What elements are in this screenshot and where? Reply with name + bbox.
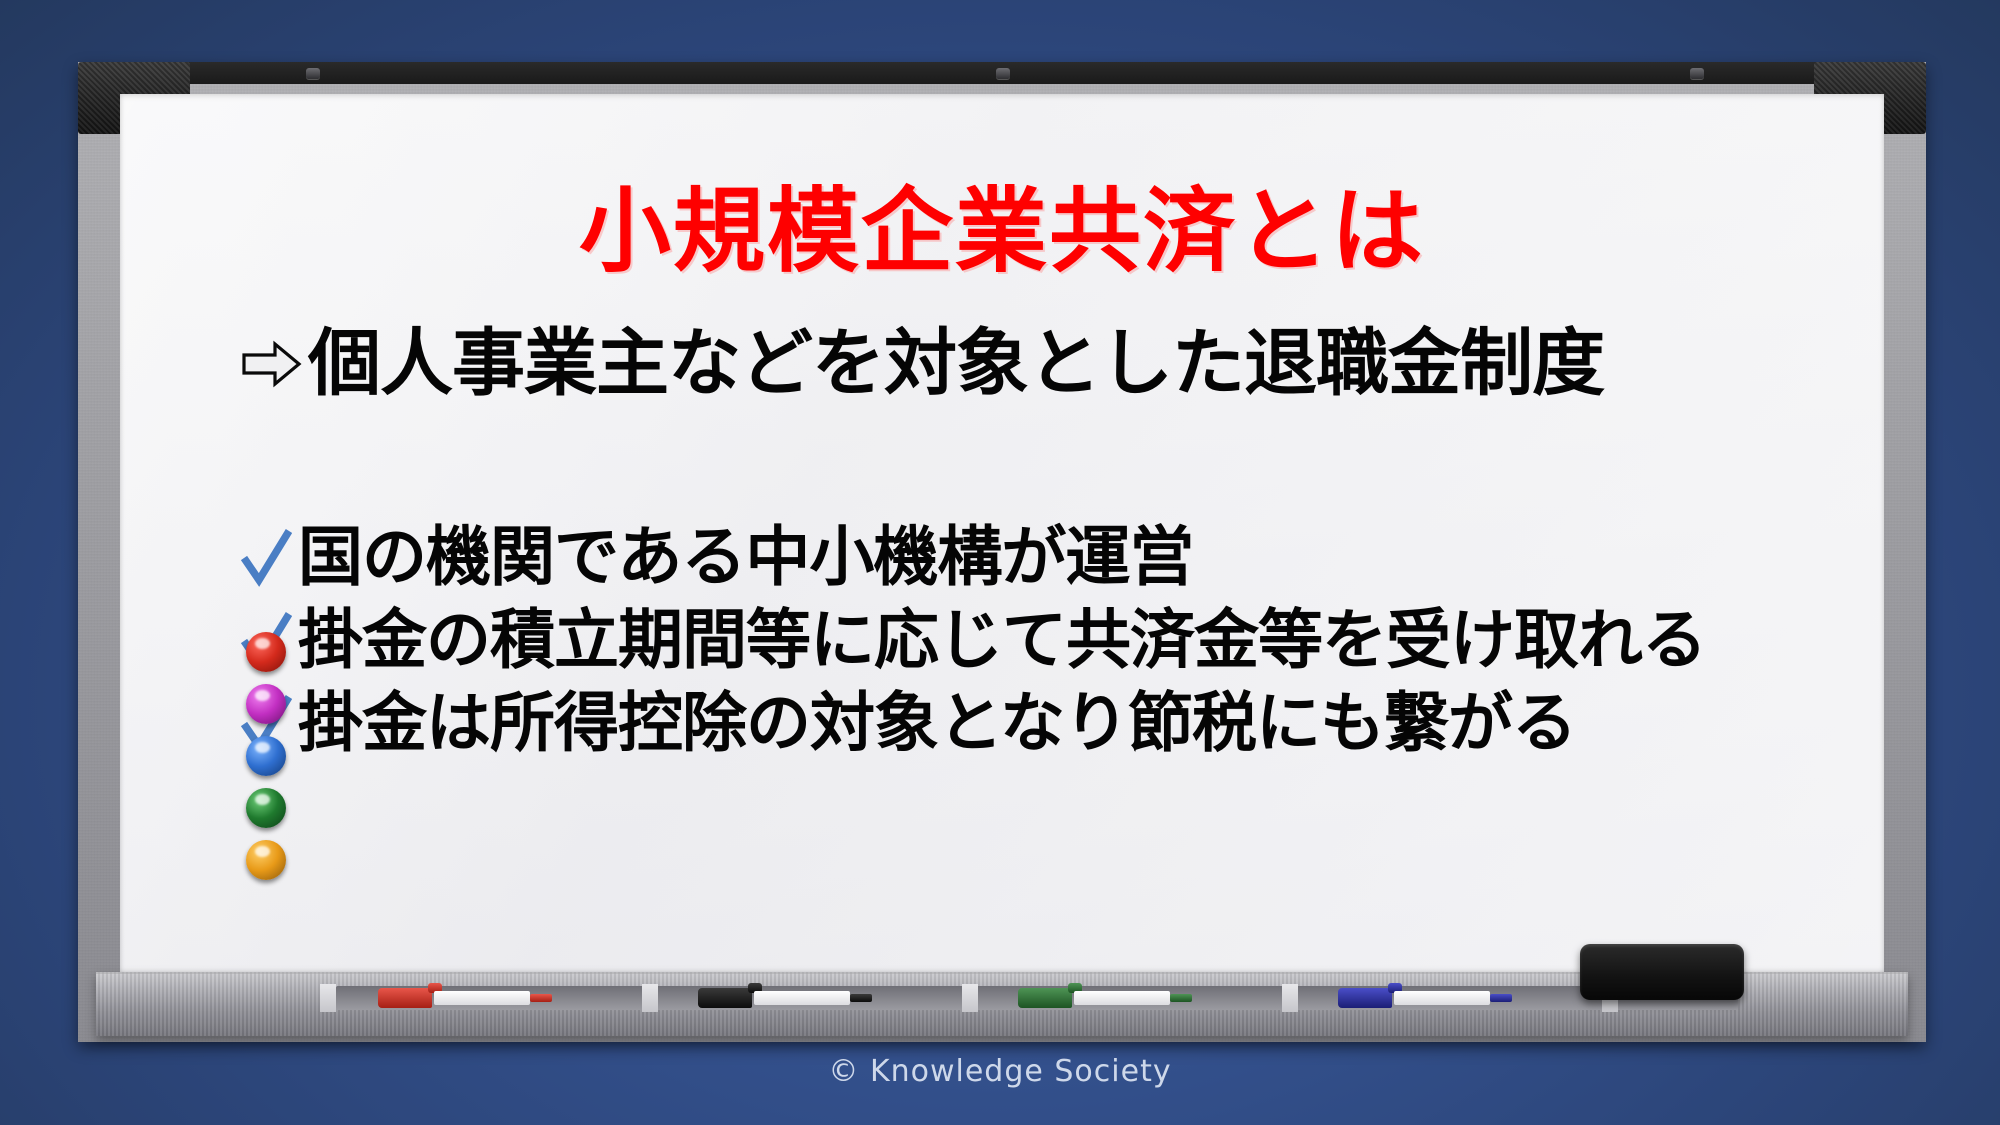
magnet-blue[interactable] — [246, 736, 286, 776]
screw-icon — [306, 68, 320, 79]
list-item-label: 掛金の積立期間等に応じて共済金等を受け取れる — [298, 607, 1706, 676]
screw-icon — [1690, 68, 1704, 79]
list-item: 掛金は所得控除の対象となり節税にも繋がる — [238, 690, 1864, 759]
blue-checkmark-icon — [238, 527, 294, 589]
bullet-list: 国の機関である中小機構が運営 掛金の積立期間等に応じて共済金等を受け取れる — [238, 524, 1864, 773]
magnet-purple[interactable] — [246, 684, 286, 724]
magnet-green[interactable] — [246, 788, 286, 828]
list-item: 国の機関である中小機構が運営 — [238, 524, 1864, 593]
list-item: 掛金の積立期間等に応じて共済金等を受け取れる — [238, 607, 1864, 676]
list-item-label: 国の機関である中小機構が運営 — [298, 524, 1193, 593]
subtitle-row: 個人事業主などを対象とした退職金制度 — [240, 326, 1844, 403]
screw-icon — [996, 68, 1010, 79]
whiteboard: 小規模企業共済とは 個人事業主などを対象とした退職金制度 国の機関 — [78, 62, 1926, 1042]
tray-divider — [962, 984, 978, 1012]
tray-divider — [1282, 984, 1298, 1012]
subtitle-text: 個人事業主などを対象とした退職金制度 — [308, 326, 1604, 403]
list-item-label: 掛金は所得控除の対象となり節税にも繋がる — [298, 690, 1576, 759]
magnet-orange[interactable] — [246, 840, 286, 880]
footer-credit: © Knowledge Society — [0, 1054, 2000, 1089]
slide-canvas: 小規模企業共済とは 個人事業主などを対象とした退職金制度 国の機関 — [0, 0, 2000, 1125]
magnet-strip — [246, 632, 290, 892]
tray-divider — [320, 984, 336, 1012]
tray-divider — [642, 984, 658, 1012]
magnet-red[interactable] — [246, 632, 286, 672]
hollow-right-arrow-icon — [240, 336, 304, 392]
page-title: 小規模企業共済とは — [120, 186, 1884, 278]
whiteboard-eraser[interactable] — [1580, 944, 1744, 1000]
slide-content: 小規模企業共済とは 個人事業主などを対象とした退職金制度 国の機関 — [120, 94, 1884, 974]
